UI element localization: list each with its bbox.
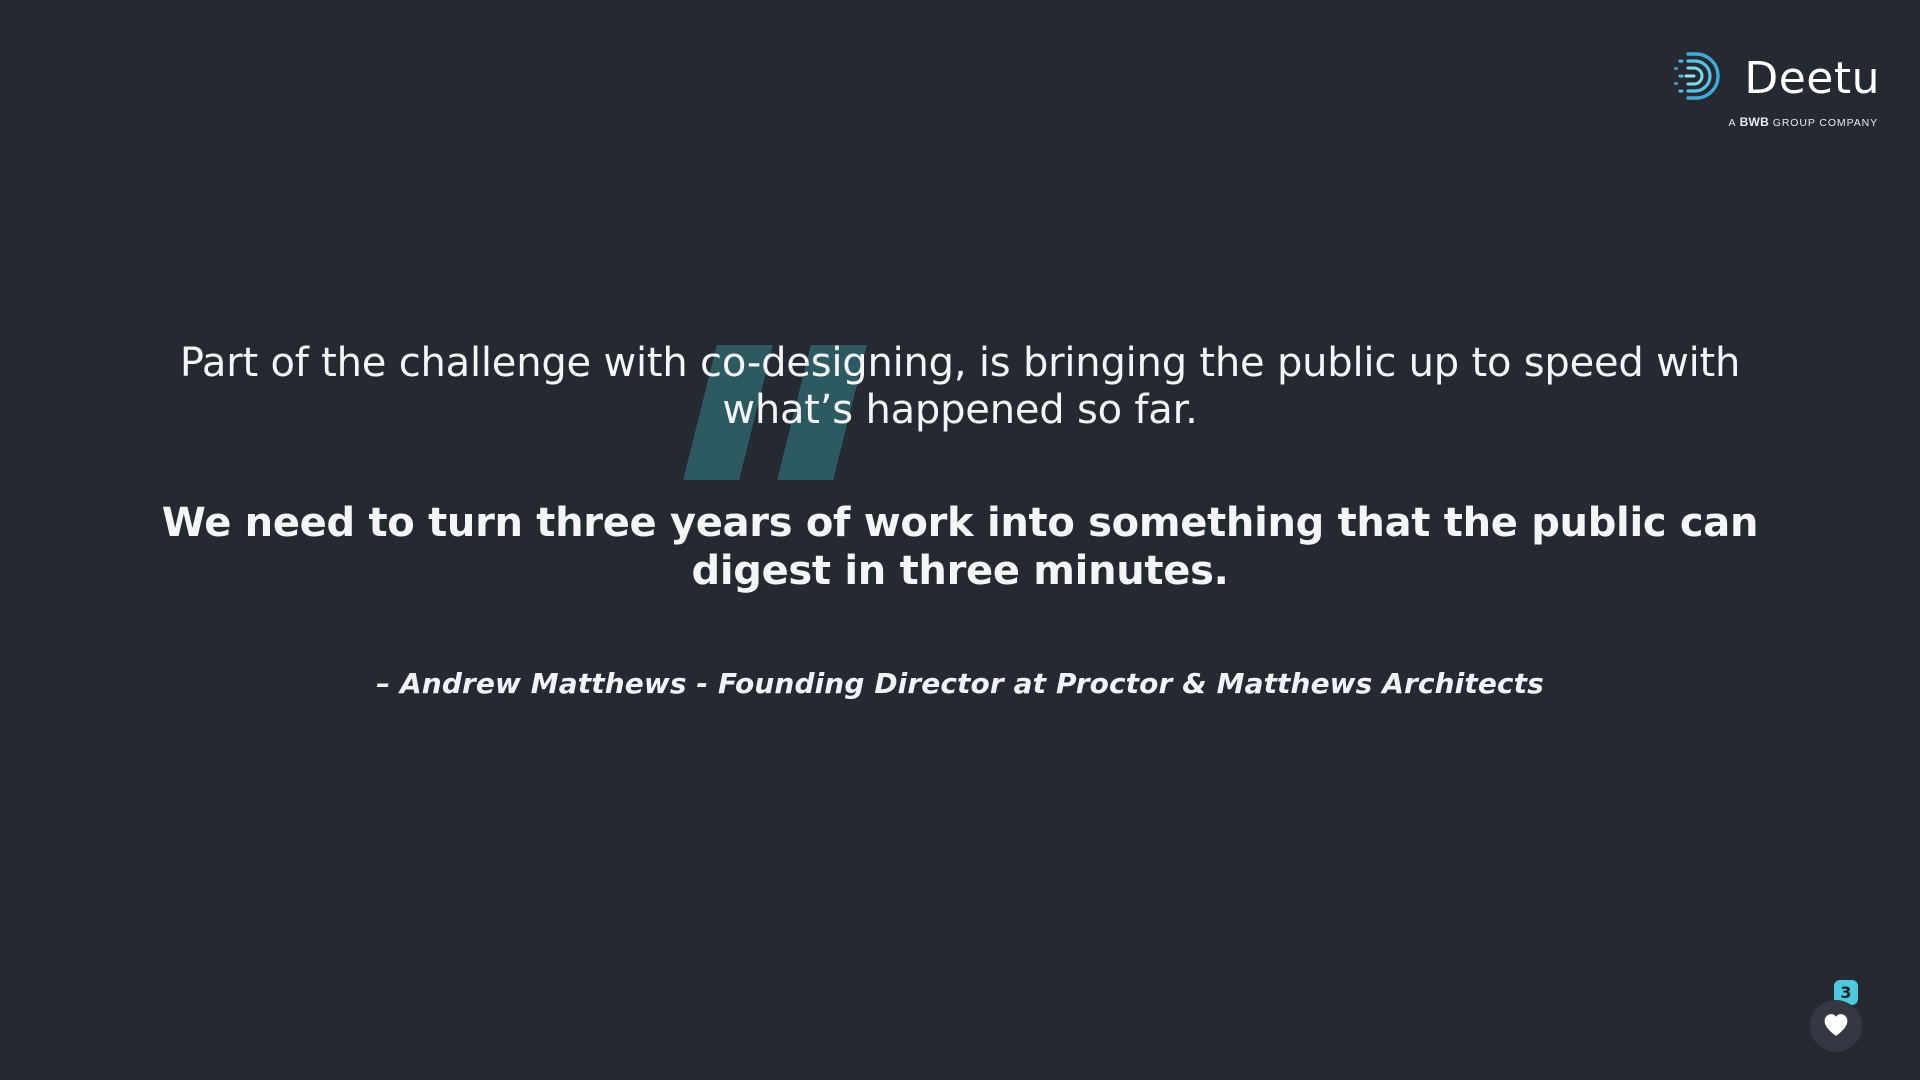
- logo-tagline-brand: BWB: [1740, 115, 1769, 129]
- deetu-logo: Deetu A BWB GROUP COMPANY: [1674, 48, 1880, 129]
- quote-attribution: – Andrew Matthews - Founding Director at…: [150, 667, 1770, 700]
- logo-tagline-suffix: GROUP COMPANY: [1769, 117, 1878, 129]
- logo-row: Deetu: [1674, 48, 1880, 109]
- quote-slide: Deetu A BWB GROUP COMPANY Part of the ch…: [0, 0, 1920, 1080]
- logo-wordmark: Deetu: [1744, 57, 1880, 101]
- quote-paragraph-one: Part of the challenge with co-designing,…: [150, 340, 1770, 434]
- logo-tagline: A BWB GROUP COMPANY: [1729, 115, 1878, 129]
- quote-content: Part of the challenge with co-designing,…: [0, 340, 1920, 700]
- heart-icon: [1823, 1013, 1849, 1040]
- like-button[interactable]: [1810, 1000, 1862, 1052]
- deetu-d-arcs-icon: [1674, 48, 1730, 109]
- quote-paragraph-two: We need to turn three years of work into…: [150, 500, 1770, 594]
- logo-tagline-prefix: A: [1729, 117, 1740, 129]
